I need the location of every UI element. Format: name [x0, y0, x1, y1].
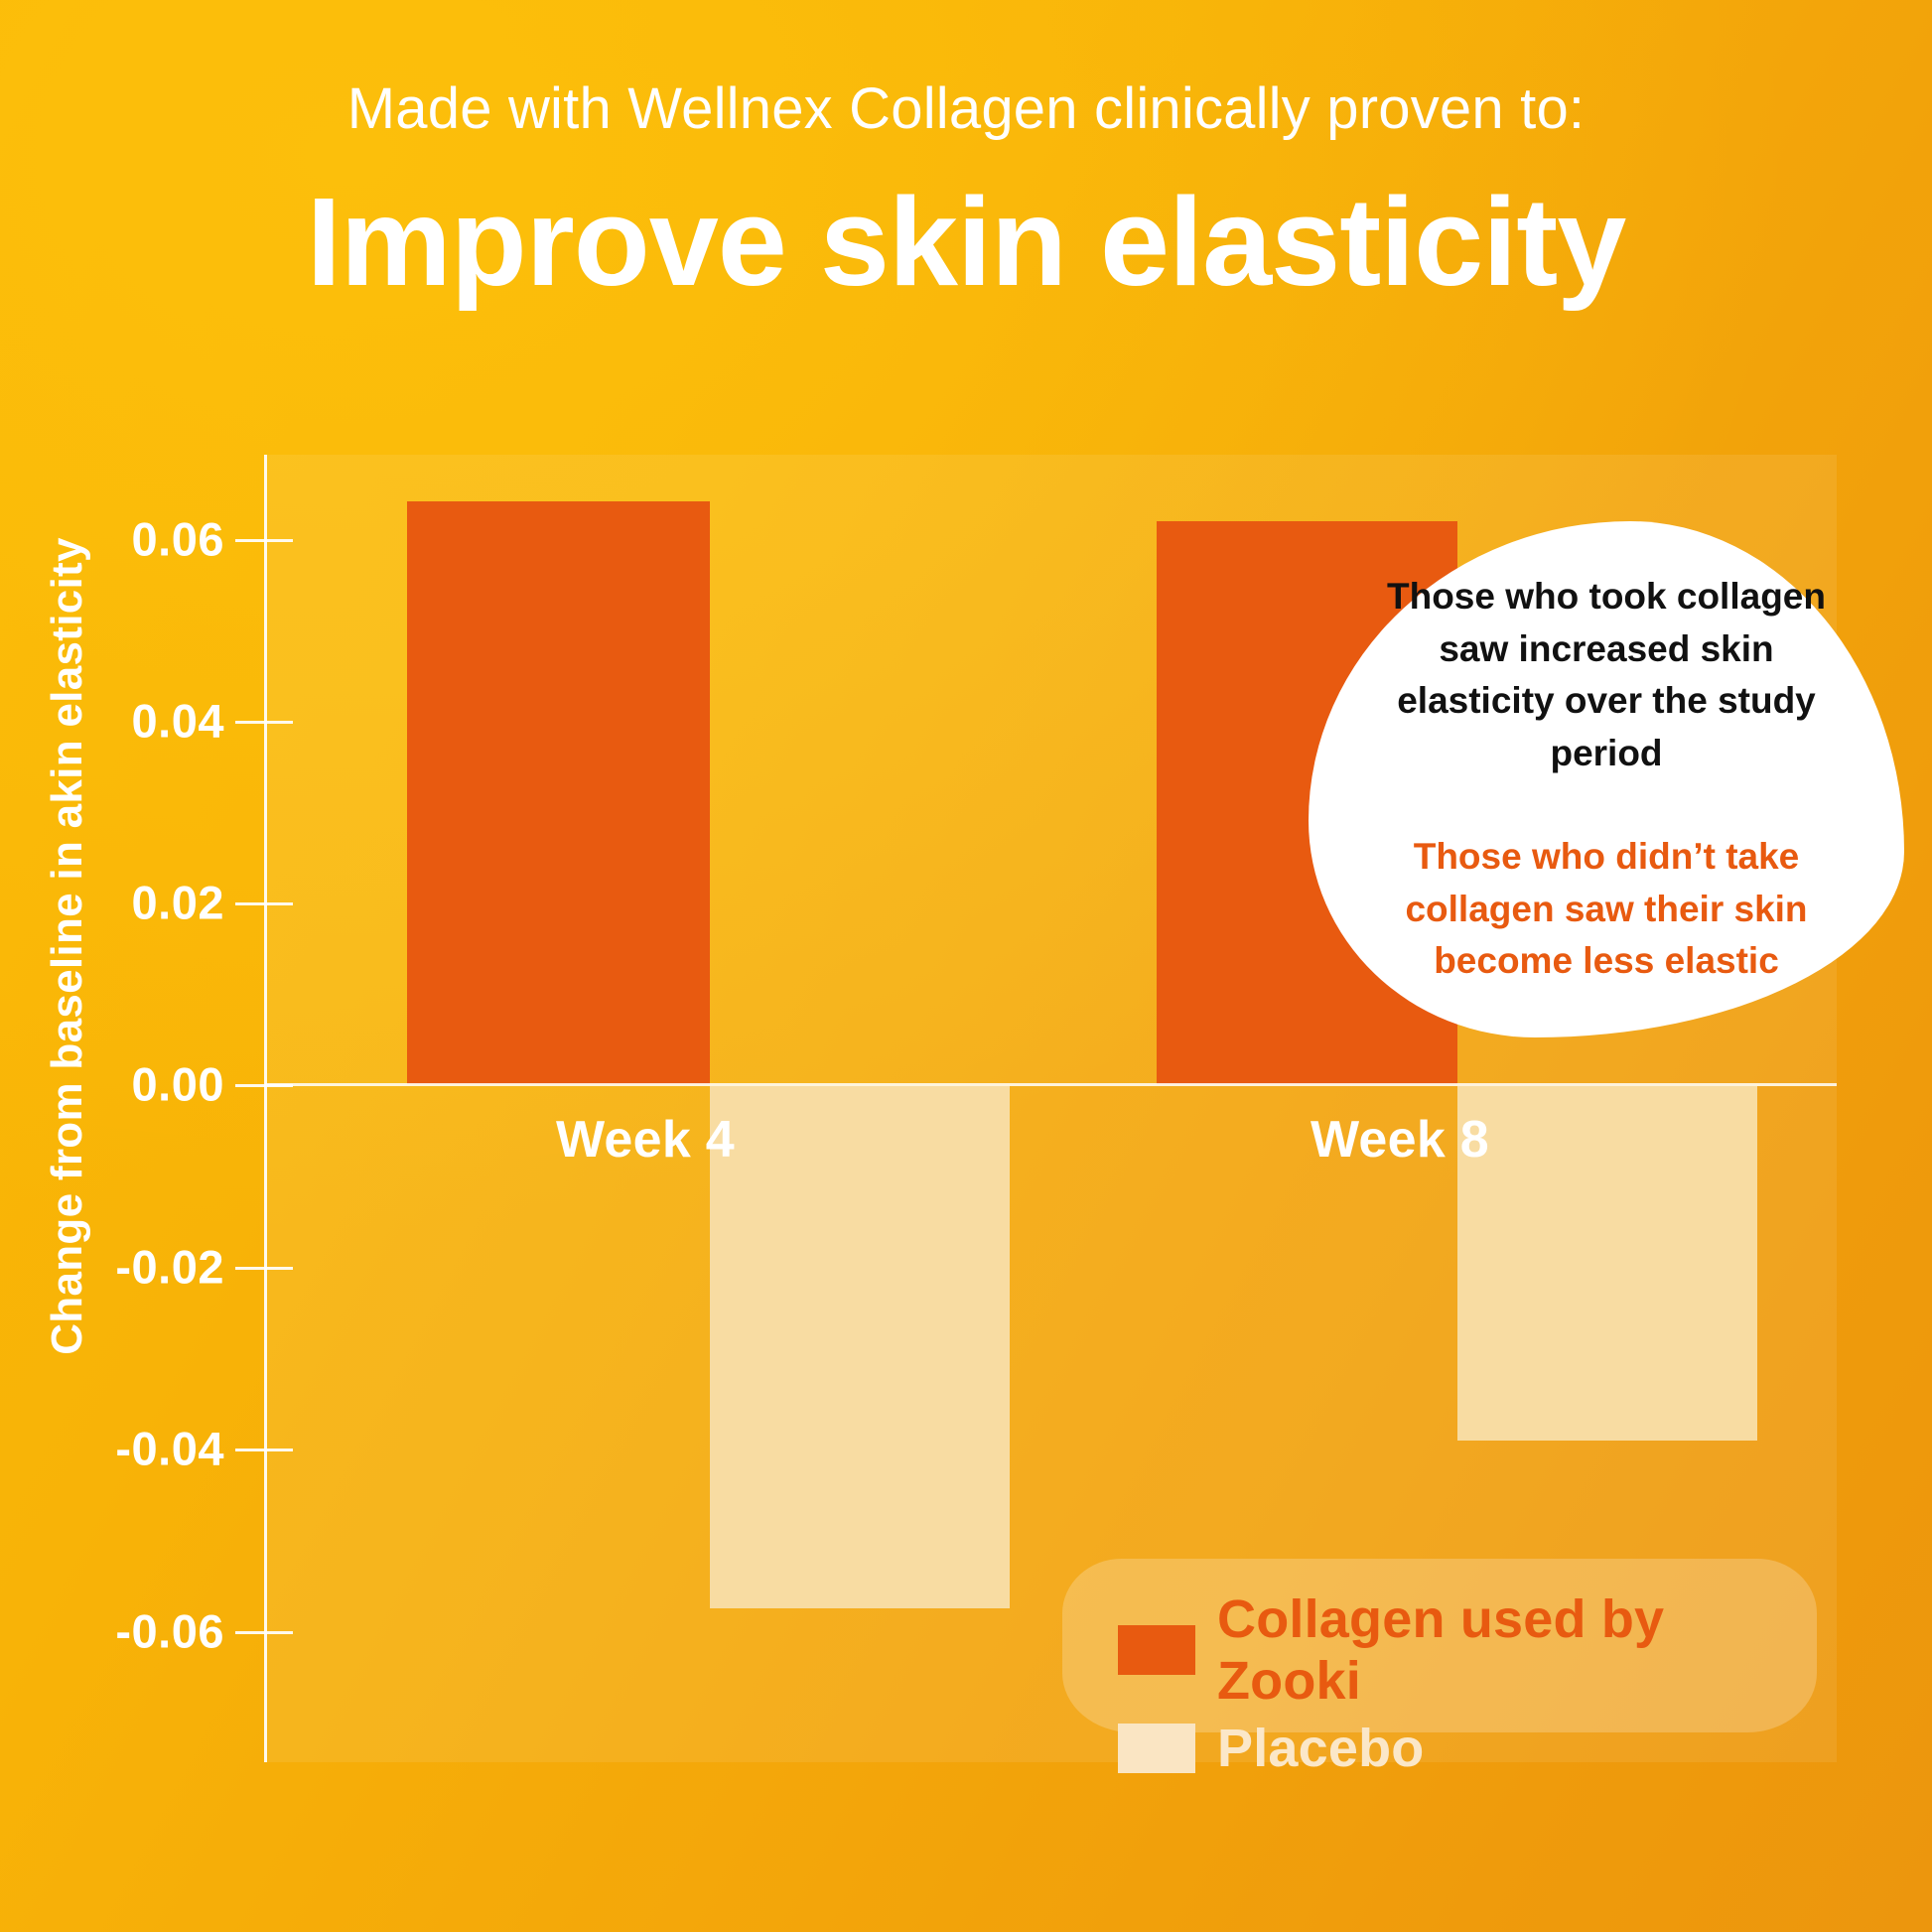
y-tick-label-3: 0.00: [0, 1057, 224, 1112]
legend-label-placebo: Placebo: [1217, 1718, 1425, 1779]
y-tick-0: [235, 539, 293, 542]
zero-baseline: [265, 1083, 1837, 1086]
chart-legend: Collagen used by Zooki Placebo: [1062, 1559, 1817, 1732]
y-axis-line: [264, 455, 267, 1762]
bar-week4-collagen: [407, 501, 710, 1084]
legend-swatch-placebo-icon: [1118, 1724, 1195, 1773]
y-tick-label-5: -0.04: [0, 1422, 224, 1476]
callout-primary-text: Those who took collagen saw increased sk…: [1382, 571, 1831, 779]
y-tick-label-2: 0.02: [0, 876, 224, 930]
legend-swatch-collagen-icon: [1118, 1625, 1195, 1675]
callout-secondary-text: Those who didn’t take collagen saw their…: [1382, 831, 1831, 988]
x-category-label-week8: Week 8: [1241, 1110, 1559, 1170]
y-axis-title: Change from baseline in akin elasticity: [43, 529, 92, 1363]
y-tick-1: [235, 721, 293, 724]
y-tick-5: [235, 1449, 293, 1451]
legend-item-collagen[interactable]: Collagen used by Zooki: [1118, 1588, 1817, 1712]
x-category-label-week4: Week 4: [486, 1110, 804, 1170]
y-tick-label-6: -0.06: [0, 1604, 224, 1659]
legend-item-placebo[interactable]: Placebo: [1118, 1718, 1817, 1779]
callout-bubble: Those who took collagen saw increased sk…: [1309, 521, 1904, 1037]
y-tick-2: [235, 902, 293, 905]
y-tick-label-4: -0.02: [0, 1240, 224, 1295]
y-tick-label-1: 0.04: [0, 694, 224, 749]
y-tick-label-0: 0.06: [0, 512, 224, 567]
y-tick-6: [235, 1631, 293, 1634]
legend-label-collagen: Collagen used by Zooki: [1217, 1588, 1817, 1712]
y-tick-4: [235, 1267, 293, 1270]
